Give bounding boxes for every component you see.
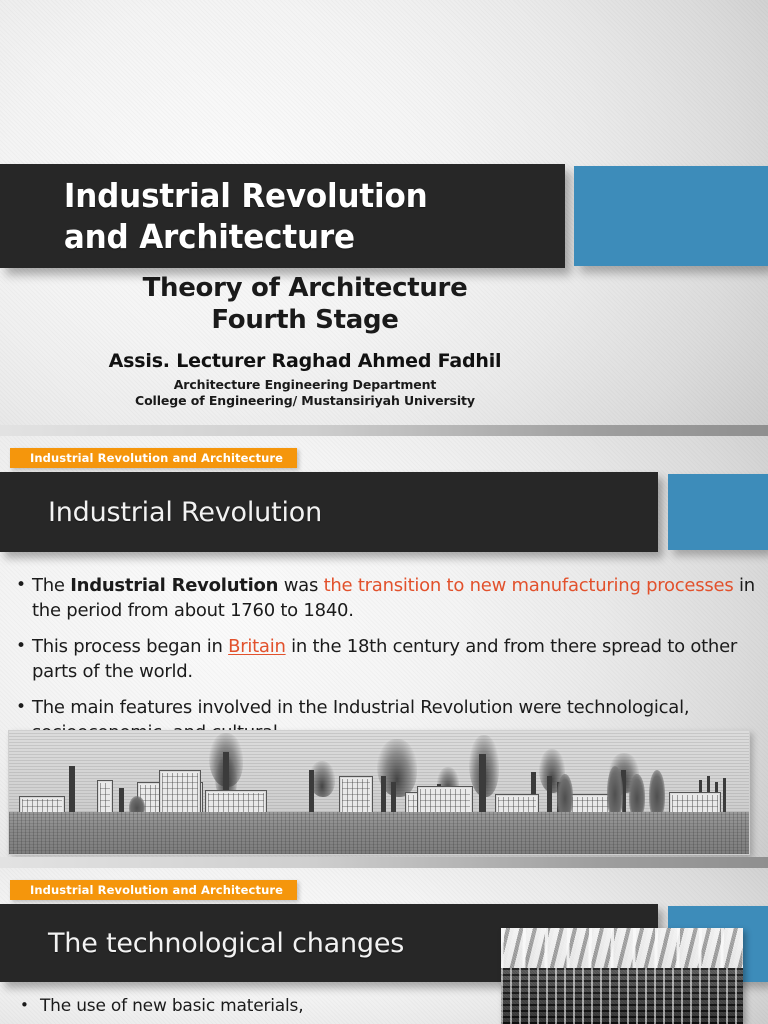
- affiliation-text: Architecture Engineering Department Coll…: [0, 377, 610, 409]
- accent-block-blue: [574, 166, 768, 266]
- engraving-foreground: [9, 812, 749, 854]
- slide-deck-page: Industrial Revolution and Architecture T…: [0, 0, 768, 1024]
- bullet-text: The: [32, 575, 70, 596]
- subtitle-text: Theory of Architecture Fourth Stage: [0, 272, 610, 336]
- bullet-item: This process began in Britain in the 18t…: [12, 635, 756, 684]
- photo-grain: [501, 928, 743, 1024]
- bullet-list: The use of new basic materials,: [12, 994, 512, 1018]
- page-title: Industrial Revolution and Architecture: [0, 175, 428, 257]
- slide-heading: Industrial Revolution: [0, 497, 322, 528]
- accent-block-blue: [668, 474, 768, 550]
- slide-heading: The technological changes: [0, 928, 404, 959]
- slide-tab-label: Industrial Revolution and Architecture: [10, 448, 297, 468]
- title-bar: Industrial Revolution and Architecture: [0, 164, 565, 268]
- slide-header-bar: Industrial Revolution: [0, 472, 658, 552]
- bullet-text: Industrial Revolution: [70, 575, 278, 596]
- factory-interior-photo: [501, 928, 743, 1024]
- bullet-item: The use of new basic materials,: [12, 994, 512, 1018]
- bullet-item: The Industrial Revolution was the transi…: [12, 574, 756, 623]
- slide-separator: [0, 857, 768, 868]
- slide-technological-changes: Industrial Revolution and Architecture T…: [0, 868, 768, 1024]
- industrial-landscape-engraving: [8, 730, 750, 855]
- slide-separator: [0, 425, 768, 436]
- bullet-text: This process began in: [32, 636, 228, 657]
- subtitle-block: Theory of Architecture Fourth Stage: [0, 272, 610, 336]
- bullet-text: the transition to new manufacturing proc…: [324, 575, 734, 596]
- bullet-text: was: [278, 575, 323, 596]
- slide-tab-label: Industrial Revolution and Architecture: [10, 880, 297, 900]
- author-name: Assis. Lecturer Raghad Ahmed Fadhil: [0, 350, 610, 372]
- slide-industrial-revolution: Industrial Revolution and Architecture I…: [0, 436, 768, 857]
- bullet-link[interactable]: Britain: [228, 636, 286, 657]
- slide-title: Industrial Revolution and Architecture T…: [0, 0, 768, 425]
